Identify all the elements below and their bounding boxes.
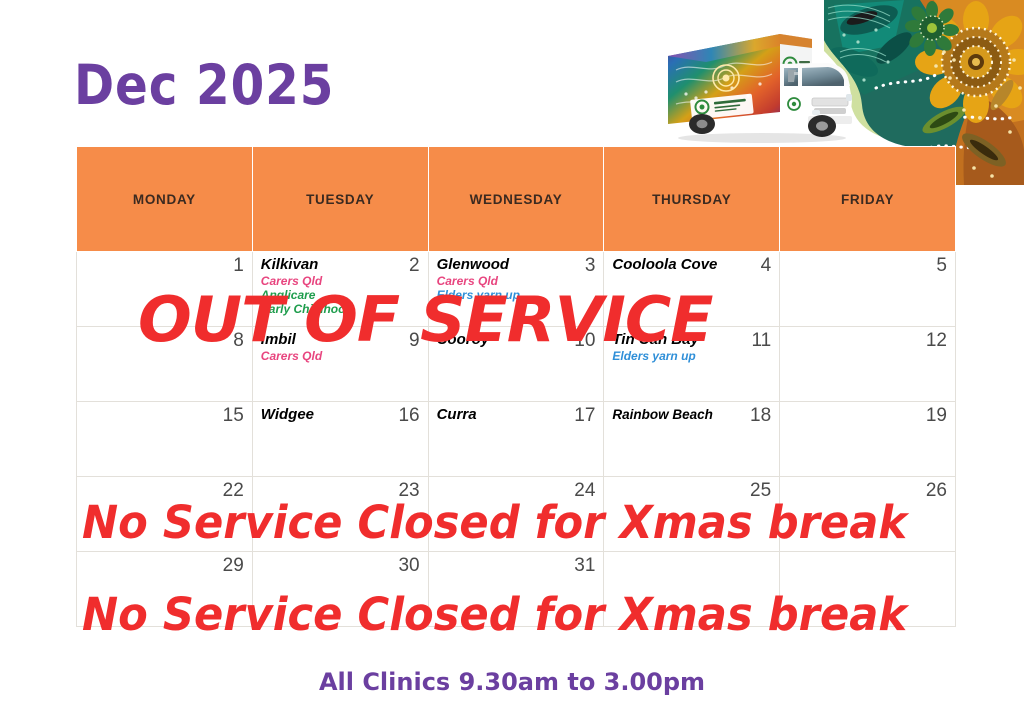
day-number: 19 <box>926 406 947 425</box>
calendar-day-cell[interactable] <box>780 552 956 627</box>
day-number: 15 <box>223 406 244 425</box>
column-header-friday: FRIDAY <box>780 147 956 252</box>
calendar-day-cell[interactable]: 26 <box>780 477 956 552</box>
day-number: 22 <box>223 481 244 500</box>
calendar-day-cell[interactable]: 31 <box>428 552 604 627</box>
day-number: 30 <box>398 556 419 575</box>
day-number: 25 <box>750 481 771 500</box>
calendar-header-row: MONDAY TUESDAY WEDNESDAY THURSDAY FRIDAY <box>77 147 956 252</box>
calendar-body: 12KilkivanCarers QldAnglicareEarly Child… <box>77 252 956 627</box>
calendar-day-cell[interactable]: 22 <box>77 477 253 552</box>
event-service-elders-yarn-up: Elders yarn up <box>612 349 746 363</box>
day-cell-inner: 2KilkivanCarers QldAnglicareEarly Childh… <box>253 252 428 326</box>
day-cell-inner: 18Rainbow Beach <box>604 402 779 476</box>
day-events: KilkivanCarers QldAnglicareEarly Childho… <box>261 257 421 316</box>
calendar-day-cell[interactable]: 1 <box>77 252 253 327</box>
event-location: Kilkivan <box>261 257 395 274</box>
day-cell-inner: 8 <box>77 327 252 401</box>
day-cell-inner: 3GlenwoodCarers QldElders yarn up <box>429 252 604 326</box>
day-cell-inner: 26 <box>780 477 955 551</box>
calendar-day-cell[interactable]: 23 <box>252 477 428 552</box>
event-service-elders-yarn-up: Elders yarn up <box>437 288 571 302</box>
day-cell-inner: 15 <box>77 402 252 476</box>
day-cell-inner: 31 <box>429 552 604 626</box>
day-number: 23 <box>398 481 419 500</box>
page-title: Dec 2025 <box>74 53 334 117</box>
event-service-carers-qld: Carers Qld <box>437 274 571 288</box>
calendar-day-cell[interactable]: 3GlenwoodCarers QldElders yarn up <box>428 252 604 327</box>
day-number: 29 <box>223 556 244 575</box>
day-events: Cooloola Cove <box>612 257 772 274</box>
calendar-week-row: 89ImbilCarers Qld10Cooroy11Tin Can BayEl… <box>77 327 956 402</box>
day-number: 24 <box>574 481 595 500</box>
calendar-day-cell[interactable]: 17Curra <box>428 402 604 477</box>
clinic-hours-footer: All Clinics 9.30am to 3.00pm <box>0 668 1024 696</box>
day-events: GlenwoodCarers QldElders yarn up <box>437 257 597 302</box>
day-cell-inner: 1 <box>77 252 252 326</box>
column-header-wednesday: WEDNESDAY <box>428 147 604 252</box>
calendar-day-cell[interactable]: 24 <box>428 477 604 552</box>
calendar-day-cell[interactable]: 2KilkivanCarers QldAnglicareEarly Childh… <box>252 252 428 327</box>
calendar-day-cell[interactable]: 11Tin Can BayElders yarn up <box>604 327 780 402</box>
event-location: Rainbow Beach <box>612 407 746 422</box>
calendar-day-cell[interactable]: 15 <box>77 402 253 477</box>
mobile-clinic-truck-image <box>662 12 858 152</box>
event-location: Cooroy <box>437 332 571 349</box>
column-header-tuesday: TUESDAY <box>252 147 428 252</box>
day-number: 12 <box>926 331 947 350</box>
calendar-table: MONDAY TUESDAY WEDNESDAY THURSDAY FRIDAY… <box>76 146 956 627</box>
event-location: Imbil <box>261 332 395 349</box>
event-location: Tin Can Bay <box>612 332 746 349</box>
day-number: 5 <box>936 256 947 275</box>
day-number: 26 <box>926 481 947 500</box>
calendar-day-cell[interactable]: 29 <box>77 552 253 627</box>
calendar-day-cell[interactable]: 30 <box>252 552 428 627</box>
event-location: Curra <box>437 407 571 424</box>
day-cell-inner <box>780 552 955 626</box>
day-number: 31 <box>574 556 595 575</box>
day-cell-inner: 23 <box>253 477 428 551</box>
day-cell-inner: 24 <box>429 477 604 551</box>
event-location: Widgee <box>261 407 395 424</box>
column-header-monday: MONDAY <box>77 147 253 252</box>
event-service-carers-qld: Carers Qld <box>261 349 395 363</box>
day-cell-inner: 30 <box>253 552 428 626</box>
day-cell-inner: 5 <box>780 252 955 326</box>
day-events: ImbilCarers Qld <box>261 332 421 363</box>
calendar-day-cell[interactable]: 19 <box>780 402 956 477</box>
event-service-anglicare: Anglicare <box>261 288 395 302</box>
calendar-day-cell[interactable]: 16Widgee <box>252 402 428 477</box>
day-cell-inner: 22 <box>77 477 252 551</box>
calendar-day-cell[interactable]: 12 <box>780 327 956 402</box>
calendar-day-cell[interactable]: 18Rainbow Beach <box>604 402 780 477</box>
calendar-week-row: 12KilkivanCarers QldAnglicareEarly Child… <box>77 252 956 327</box>
day-cell-inner: 4Cooloola Cove <box>604 252 779 326</box>
column-header-thursday: THURSDAY <box>604 147 780 252</box>
day-events: Cooroy <box>437 332 597 349</box>
calendar-day-cell[interactable]: 10Cooroy <box>428 327 604 402</box>
event-service-anglicare: Early Childhood <box>261 302 395 316</box>
calendar-week-row: 1516Widgee17Curra18Rainbow Beach19 <box>77 402 956 477</box>
calendar-week-row: 2223242526 <box>77 477 956 552</box>
calendar-day-cell[interactable] <box>604 552 780 627</box>
day-cell-inner: 19 <box>780 402 955 476</box>
day-events: Widgee <box>261 407 421 424</box>
day-cell-inner: 12 <box>780 327 955 401</box>
day-events: Curra <box>437 407 597 424</box>
day-cell-inner: 9ImbilCarers Qld <box>253 327 428 401</box>
event-location: Cooloola Cove <box>612 257 746 274</box>
event-service-carers-qld: Carers Qld <box>261 274 395 288</box>
calendar-day-cell[interactable]: 5 <box>780 252 956 327</box>
day-cell-inner: 10Cooroy <box>429 327 604 401</box>
day-cell-inner: 17Curra <box>429 402 604 476</box>
day-number: 1 <box>233 256 244 275</box>
calendar-day-cell[interactable]: 8 <box>77 327 253 402</box>
day-cell-inner <box>604 552 779 626</box>
day-cell-inner: 29 <box>77 552 252 626</box>
day-cell-inner: 25 <box>604 477 779 551</box>
calendar-day-cell[interactable]: 25 <box>604 477 780 552</box>
day-events: Rainbow Beach <box>612 407 772 422</box>
day-events: Tin Can BayElders yarn up <box>612 332 772 363</box>
day-cell-inner: 16Widgee <box>253 402 428 476</box>
calendar-week-row: 293031 <box>77 552 956 627</box>
calendar-day-cell[interactable]: 4Cooloola Cove <box>604 252 780 327</box>
calendar-day-cell[interactable]: 9ImbilCarers Qld <box>252 327 428 402</box>
day-cell-inner: 11Tin Can BayElders yarn up <box>604 327 779 401</box>
day-number: 8 <box>233 331 244 350</box>
event-location: Glenwood <box>437 257 571 274</box>
